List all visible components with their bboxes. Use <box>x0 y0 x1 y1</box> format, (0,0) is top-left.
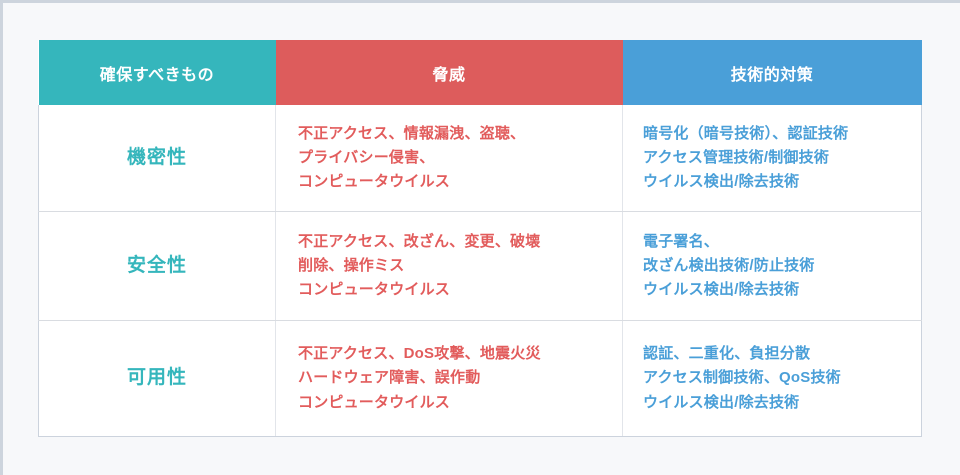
measure-list: 認証、二重化、負担分散 アクセス制御技術、QoS技術 ウイルス検出/除去技術 <box>623 342 921 415</box>
aim-label: 機密性 <box>39 146 275 171</box>
threat-line: 不正アクセス、DoS攻撃、地震火災 <box>298 342 622 366</box>
threat-list: 不正アクセス、改ざん、変更、破壊 削除、操作ミス コンピュータウイルス <box>276 230 622 303</box>
cell-threat-confidentiality: 不正アクセス、情報漏洩、盗聴、 プライバシー侵害、 コンピュータウイルス <box>276 105 623 212</box>
measure-line: ウイルス検出/除去技術 <box>643 391 921 415</box>
cell-aim-confidentiality: 機密性 <box>39 105 276 212</box>
cell-measure-confidentiality: 暗号化（暗号技術）、認証技術 アクセス管理技術/制御技術 ウイルス検出/除去技術 <box>623 105 922 212</box>
threat-list: 不正アクセス、情報漏洩、盗聴、 プライバシー侵害、 コンピュータウイルス <box>276 122 622 195</box>
measure-list: 暗号化（暗号技術）、認証技術 アクセス管理技術/制御技術 ウイルス検出/除去技術 <box>623 122 921 195</box>
security-matrix-table-wrapper: 確保すべきもの 脅威 技術的対策 機密性 不正アクセス、情報漏洩、盗聴、 プライ… <box>38 40 921 437</box>
table-row: 安全性 不正アクセス、改ざん、変更、破壊 削除、操作ミス コンピュータウイルス … <box>39 212 922 321</box>
page-edge-left <box>0 0 3 475</box>
security-matrix-table: 確保すべきもの 脅威 技術的対策 機密性 不正アクセス、情報漏洩、盗聴、 プライ… <box>38 40 922 437</box>
table-header: 確保すべきもの 脅威 技術的対策 <box>39 40 922 105</box>
cell-threat-availability: 不正アクセス、DoS攻撃、地震火災 ハードウェア障害、誤作動 コンピュータウイル… <box>276 321 623 437</box>
aim-label: 可用性 <box>39 366 275 391</box>
threat-line: コンピュータウイルス <box>298 170 622 194</box>
threat-line: コンピュータウイルス <box>298 391 622 415</box>
measure-line: 電子署名、 <box>643 230 921 254</box>
measure-line: アクセス管理技術/制御技術 <box>643 146 921 170</box>
threat-line: コンピュータウイルス <box>298 278 622 302</box>
table-row: 可用性 不正アクセス、DoS攻撃、地震火災 ハードウェア障害、誤作動 コンピュー… <box>39 321 922 437</box>
measure-line: 改ざん検出技術/防止技術 <box>643 254 921 278</box>
page-root: 確保すべきもの 脅威 技術的対策 機密性 不正アクセス、情報漏洩、盗聴、 プライ… <box>0 0 960 475</box>
threat-line: プライバシー侵害、 <box>298 146 622 170</box>
cell-measure-availability: 認証、二重化、負担分散 アクセス制御技術、QoS技術 ウイルス検出/除去技術 <box>623 321 922 437</box>
table-row: 機密性 不正アクセス、情報漏洩、盗聴、 プライバシー侵害、 コンピュータウイルス… <box>39 105 922 212</box>
threat-line: 削除、操作ミス <box>298 254 622 278</box>
table-body: 機密性 不正アクセス、情報漏洩、盗聴、 プライバシー侵害、 コンピュータウイルス… <box>39 105 922 437</box>
column-header-aim: 確保すべきもの <box>39 40 276 105</box>
threat-list: 不正アクセス、DoS攻撃、地震火災 ハードウェア障害、誤作動 コンピュータウイル… <box>276 342 622 415</box>
threat-line: ハードウェア障害、誤作動 <box>298 366 622 390</box>
column-header-measure: 技術的対策 <box>623 40 922 105</box>
measure-line: 暗号化（暗号技術）、認証技術 <box>643 122 921 146</box>
measure-line: 認証、二重化、負担分散 <box>643 342 921 366</box>
threat-line: 不正アクセス、情報漏洩、盗聴、 <box>298 122 622 146</box>
cell-threat-integrity: 不正アクセス、改ざん、変更、破壊 削除、操作ミス コンピュータウイルス <box>276 212 623 321</box>
measure-line: ウイルス検出/除去技術 <box>643 278 921 302</box>
measure-line: アクセス制御技術、QoS技術 <box>643 366 921 390</box>
table-header-row: 確保すべきもの 脅威 技術的対策 <box>39 40 922 105</box>
aim-label: 安全性 <box>39 254 275 279</box>
cell-measure-integrity: 電子署名、 改ざん検出技術/防止技術 ウイルス検出/除去技術 <box>623 212 922 321</box>
measure-line: ウイルス検出/除去技術 <box>643 170 921 194</box>
cell-aim-availability: 可用性 <box>39 321 276 437</box>
measure-list: 電子署名、 改ざん検出技術/防止技術 ウイルス検出/除去技術 <box>623 230 921 303</box>
cell-aim-integrity: 安全性 <box>39 212 276 321</box>
page-edge-top <box>0 0 960 3</box>
column-header-threat: 脅威 <box>276 40 623 105</box>
threat-line: 不正アクセス、改ざん、変更、破壊 <box>298 230 622 254</box>
